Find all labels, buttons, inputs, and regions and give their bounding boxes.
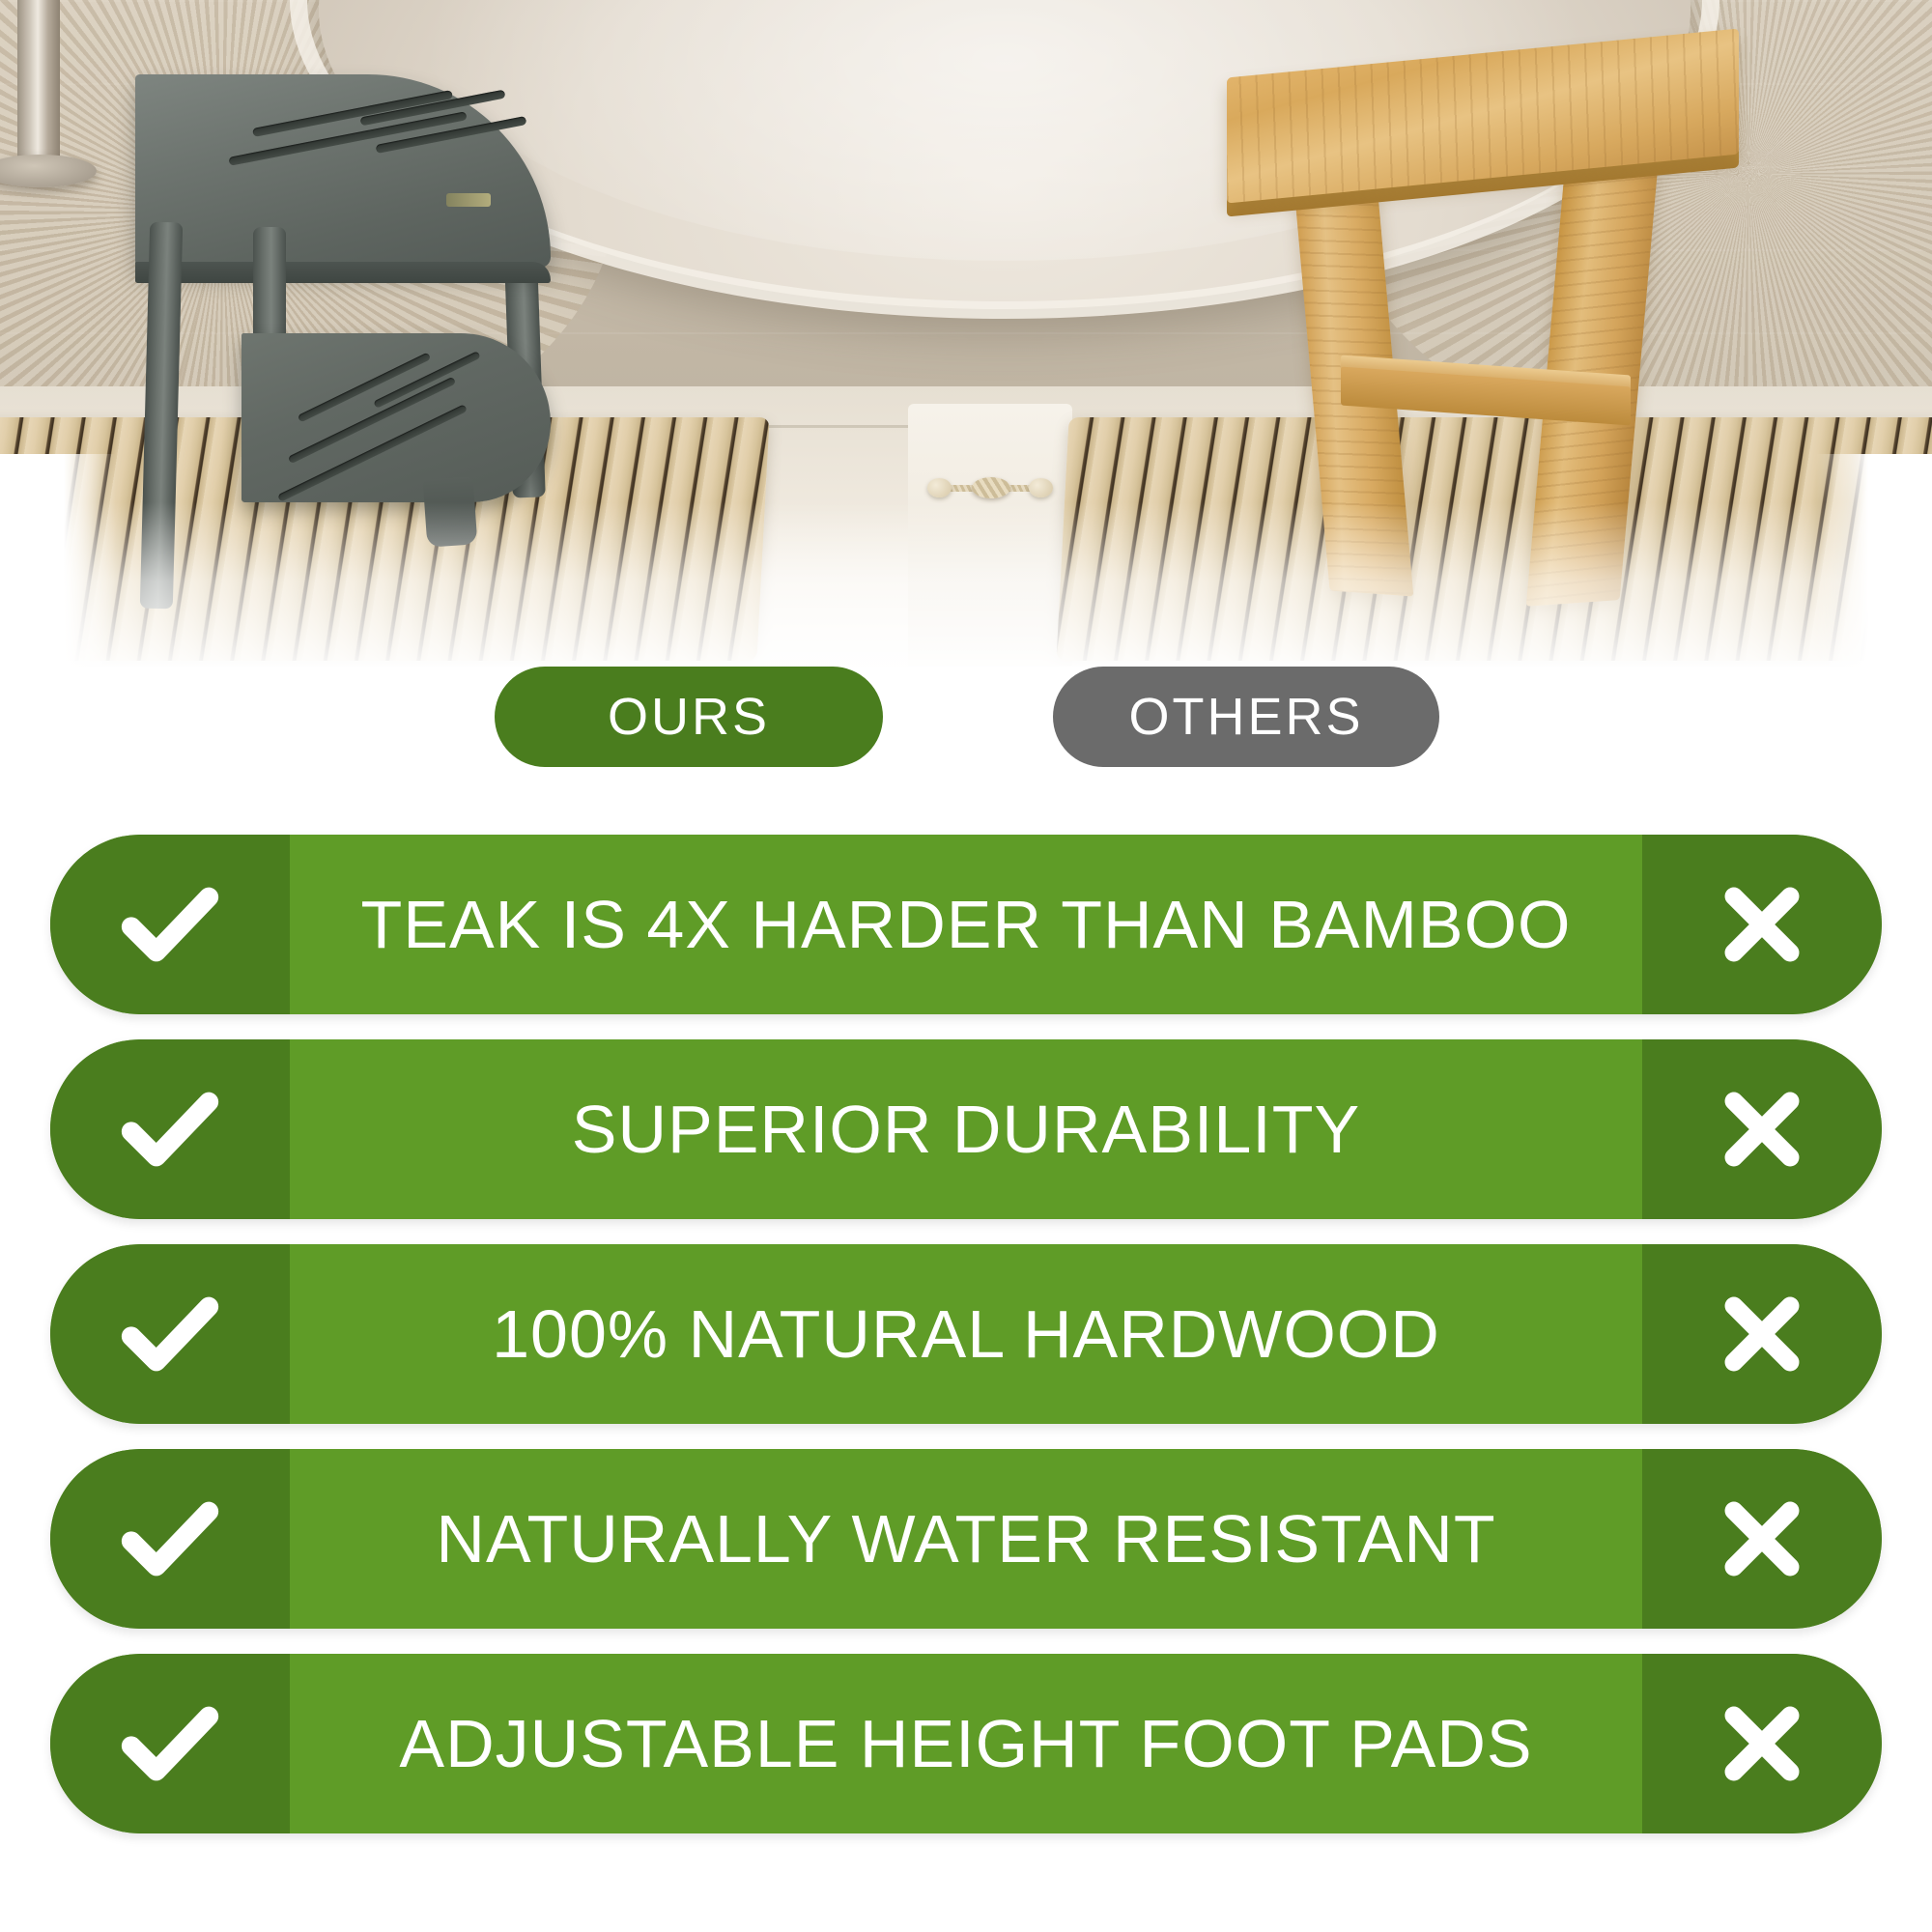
ours-cell <box>50 1449 290 1629</box>
rope-bead-right <box>1029 478 1053 497</box>
ours-cell <box>50 1244 290 1424</box>
check-icon <box>113 867 227 981</box>
ours-cell <box>50 835 290 1014</box>
rope-knot <box>972 477 1010 498</box>
x-icon <box>1712 1284 1812 1384</box>
column-badges: OURS OTHERS <box>0 667 1932 792</box>
comparison-row: NATURALLY WATER RESISTANT <box>50 1449 1882 1629</box>
x-icon <box>1712 1693 1812 1794</box>
feature-label: 100% NATURAL HARDWOOD <box>290 1244 1642 1424</box>
bamboo-grain <box>1227 28 1739 203</box>
comparison-rows: TEAK IS 4X HARDER THAN BAMBOO SUPERIOR D… <box>0 821 1932 1932</box>
feature-label: NATURALLY WATER RESISTANT <box>290 1449 1642 1629</box>
x-icon <box>1712 874 1812 975</box>
bathroom-scene <box>0 0 1932 676</box>
feature-label: TEAK IS 4X HARDER THAN BAMBOO <box>290 835 1642 1014</box>
ours-cell <box>50 1039 290 1219</box>
badge-others: OTHERS <box>1053 667 1439 767</box>
bench-brand-plate <box>446 193 491 207</box>
rope-connector <box>927 477 1053 498</box>
hero-product-scene: OURS OTHERS <box>0 0 1932 792</box>
check-icon <box>113 1687 227 1801</box>
comparison-row: 100% NATURAL HARDWOOD <box>50 1244 1882 1424</box>
others-cell <box>1642 1449 1882 1629</box>
stool-seat-top <box>1227 28 1739 203</box>
comparison-row: TEAK IS 4X HARDER THAN BAMBOO <box>50 835 1882 1014</box>
shower-pole <box>17 0 60 164</box>
others-cell <box>1642 1654 1882 1833</box>
bench-lower-shelf <box>241 333 551 502</box>
check-icon <box>113 1482 227 1596</box>
check-icon <box>113 1277 227 1391</box>
feature-label: ADJUSTABLE HEIGHT FOOT PADS <box>290 1654 1642 1833</box>
others-cell <box>1642 1244 1882 1424</box>
bench-seat-top <box>135 74 551 268</box>
rope-bead-left <box>927 478 952 497</box>
x-icon <box>1712 1489 1812 1589</box>
scene-right-fade <box>1816 454 1932 676</box>
x-icon <box>1712 1079 1812 1179</box>
comparison-infographic: OURS OTHERS TEAK IS 4X HARDER THAN BAMBO… <box>0 0 1932 1932</box>
badge-ours: OURS <box>495 667 883 767</box>
scene-left-fade <box>0 454 116 676</box>
others-cell <box>1642 1039 1882 1219</box>
check-icon <box>113 1072 227 1186</box>
scene-bottom-fade <box>0 502 1932 676</box>
comparison-row: SUPERIOR DURABILITY <box>50 1039 1882 1219</box>
comparison-row: ADJUSTABLE HEIGHT FOOT PADS <box>50 1654 1882 1833</box>
feature-label: SUPERIOR DURABILITY <box>290 1039 1642 1219</box>
others-cell <box>1642 835 1882 1014</box>
ours-cell <box>50 1654 290 1833</box>
